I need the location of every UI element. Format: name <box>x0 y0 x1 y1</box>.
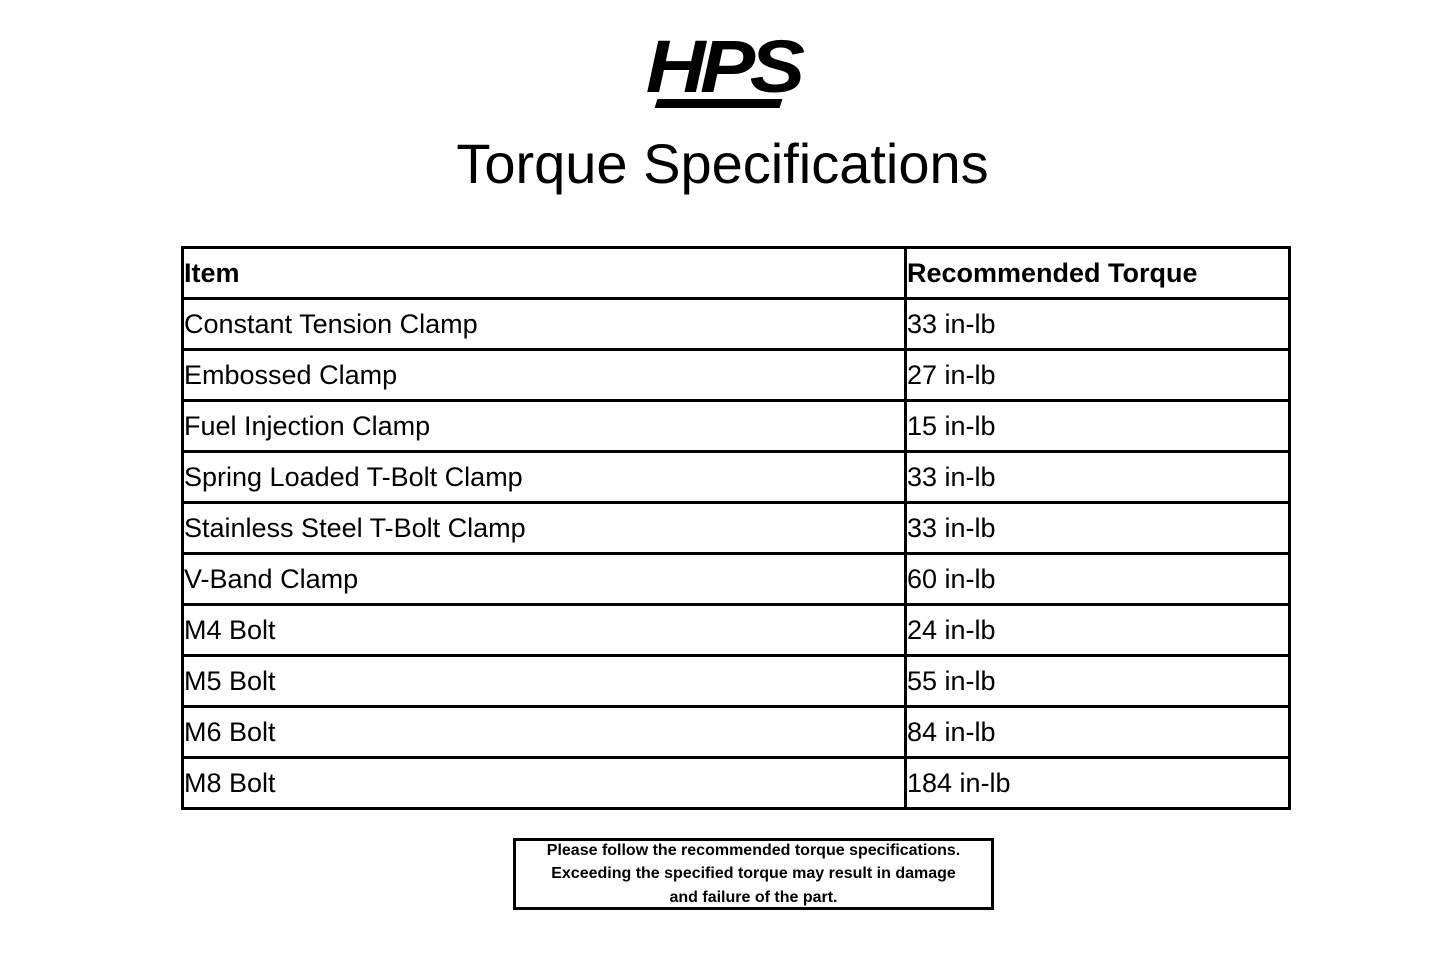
cell-torque: 55 in-lb <box>906 656 1290 707</box>
warning-note-box: Please follow the recommended torque spe… <box>513 838 994 910</box>
cell-torque: 33 in-lb <box>906 503 1290 554</box>
hps-logo-underline-bar <box>654 99 782 108</box>
cell-torque: 15 in-lb <box>906 401 1290 452</box>
cell-item: Fuel Injection Clamp <box>183 401 906 452</box>
table-row: Constant Tension Clamp 33 in-lb <box>183 299 1290 350</box>
torque-specifications-table: Item Recommended Torque Constant Tension… <box>181 246 1291 810</box>
table-row: Stainless Steel T-Bolt Clamp 33 in-lb <box>183 503 1290 554</box>
table-header-row: Item Recommended Torque <box>183 248 1290 299</box>
hps-logo-text: HPS <box>646 30 800 104</box>
cell-item: M6 Bolt <box>183 707 906 758</box>
note-line: Please follow the recommended torque spe… <box>547 839 960 862</box>
cell-torque: 33 in-lb <box>906 299 1290 350</box>
cell-torque: 24 in-lb <box>906 605 1290 656</box>
cell-item: M5 Bolt <box>183 656 906 707</box>
table-row: M5 Bolt 55 in-lb <box>183 656 1290 707</box>
logo-header: HPS <box>0 30 1445 104</box>
cell-torque: 184 in-lb <box>906 758 1290 809</box>
cell-torque: 60 in-lb <box>906 554 1290 605</box>
cell-item: Spring Loaded T-Bolt Clamp <box>183 452 906 503</box>
cell-item: Embossed Clamp <box>183 350 906 401</box>
cell-item: M8 Bolt <box>183 758 906 809</box>
table-row: M4 Bolt 24 in-lb <box>183 605 1290 656</box>
note-line: and failure of the part. <box>669 886 837 909</box>
table-row: M8 Bolt 184 in-lb <box>183 758 1290 809</box>
cell-item: M4 Bolt <box>183 605 906 656</box>
table-row: V-Band Clamp 60 in-lb <box>183 554 1290 605</box>
table-row: Embossed Clamp 27 in-lb <box>183 350 1290 401</box>
cell-torque: 33 in-lb <box>906 452 1290 503</box>
table-row: M6 Bolt 84 in-lb <box>183 707 1290 758</box>
cell-item: V-Band Clamp <box>183 554 906 605</box>
cell-item: Stainless Steel T-Bolt Clamp <box>183 503 906 554</box>
column-header-torque: Recommended Torque <box>906 248 1290 299</box>
cell-torque: 27 in-lb <box>906 350 1290 401</box>
table-row: Fuel Injection Clamp 15 in-lb <box>183 401 1290 452</box>
note-line: Exceeding the specified torque may resul… <box>551 862 956 885</box>
table-row: Spring Loaded T-Bolt Clamp 33 in-lb <box>183 452 1290 503</box>
page-title: Torque Specifications <box>0 133 1445 195</box>
column-header-item: Item <box>183 248 906 299</box>
hps-logo: HPS <box>654 30 791 104</box>
cell-item: Constant Tension Clamp <box>183 299 906 350</box>
cell-torque: 84 in-lb <box>906 707 1290 758</box>
